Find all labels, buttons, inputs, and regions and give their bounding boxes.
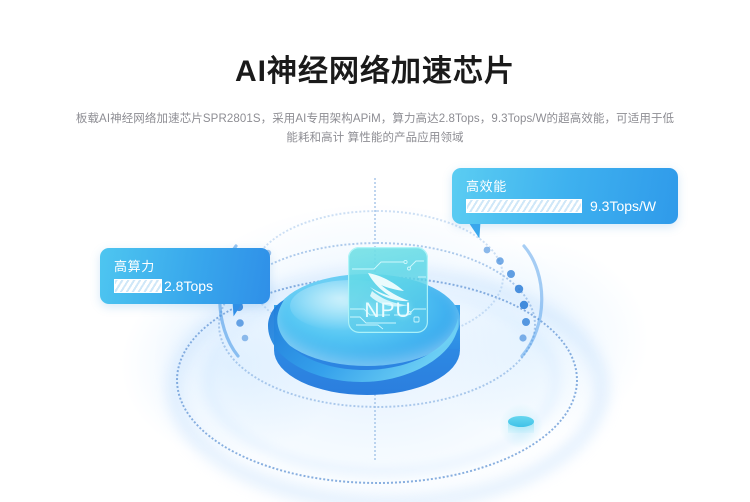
striped-bar-icon [466, 199, 582, 213]
page-title: AI神经网络加速芯片 [0, 52, 750, 92]
callout-right-value: 9.3Tops/W [590, 198, 656, 214]
cylinder-right-icon [508, 416, 534, 434]
cylinder-right-top [508, 416, 534, 427]
npu-chip-card: NPU [348, 247, 428, 333]
chip-label: NPU [348, 299, 428, 323]
callout-right: 高效能 9.3Tops/W [452, 168, 678, 224]
product-feature-banner: AI神经网络加速芯片 板载AI神经网络加速芯片SPR2801S，采用AI专用架构… [0, 0, 750, 502]
page-description: 板载AI神经网络加速芯片SPR2801S，采用AI专用架构APiM，算力高达2.… [75, 110, 675, 148]
striped-bar-icon [114, 279, 162, 293]
callout-right-metric: 9.3Tops/W [466, 198, 656, 214]
callout-right-title: 高效能 [466, 176, 507, 195]
page-description-line2: 算性能的产品应用领域 [348, 132, 464, 144]
callout-left-metric: 2.8Tops [114, 278, 213, 294]
callout-left: 高算力 2.8Tops [100, 248, 270, 304]
callout-left-value: 2.8Tops [164, 278, 213, 294]
callout-left-title: 高算力 [114, 256, 155, 275]
